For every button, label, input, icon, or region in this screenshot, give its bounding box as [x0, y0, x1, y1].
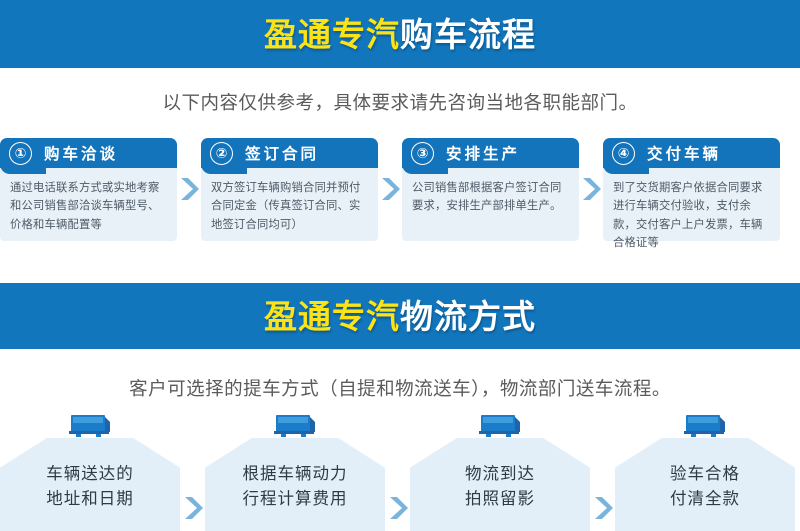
purchase-step-card-2[interactable]: ② 签订合同 双方签订车辆购销合同并预付合同定金（传真签订合同、实地签订合同均可…: [201, 138, 378, 241]
chevron-right-icon-4: [180, 410, 205, 531]
purchase-step-header-4: ④ 交付车辆: [603, 138, 780, 168]
purchase-step-card-3[interactable]: ③ 安排生产 公司销售部根据客户签订合同要求，安排生产部排单生产。: [402, 138, 579, 241]
logistics-banner-title: 盈通专汽物流方式: [264, 300, 536, 333]
logistics-step-label-4-line2: 付清全款: [615, 487, 795, 512]
truck-icon-2: [271, 410, 319, 440]
purchase-step-title-3: 安排生产: [446, 142, 520, 164]
chevron-right-icon-3: [579, 176, 603, 202]
logistics-banner-plain-text: 物流方式: [400, 298, 536, 335]
logistics-banner: 盈通专汽物流方式: [0, 283, 800, 349]
truck-icon-3: [476, 410, 524, 440]
truck-icon-4: [681, 410, 729, 440]
logistics-banner-highlight-text: 盈通专汽: [264, 298, 400, 335]
purchase-subtitle: 以下内容仅供参考，具体要求请先咨询当地各职能部门。: [0, 68, 800, 115]
logistics-step-label-2-line1: 根据车辆动力: [205, 462, 385, 487]
logistics-step-label-2: 根据车辆动力 行程计算费用: [205, 462, 385, 512]
logistics-step-label-3-line2: 拍照留影: [410, 487, 590, 512]
purchase-step-card-4[interactable]: ④ 交付车辆 到了交货期客户依据合同要求进行车辆交付验收，支付余款，交付客户上户…: [603, 138, 780, 241]
chevron-right-icon-5: [385, 410, 410, 531]
purchase-step-header-3: ③ 安排生产: [402, 138, 579, 168]
purchase-process-banner: 盈通专汽购车流程: [0, 0, 800, 68]
logistics-step-label-4-line1: 验车合格: [615, 462, 795, 487]
logistics-step-card-2[interactable]: 根据车辆动力 行程计算费用: [205, 410, 385, 531]
logistics-step-card-3[interactable]: 物流到达 拍照留影: [410, 410, 590, 531]
logistics-step-card-4[interactable]: 验车合格 付清全款: [615, 410, 795, 531]
logistics-step-card-1[interactable]: 车辆送达的 地址和日期: [0, 410, 180, 531]
purchase-step-body-3: 公司销售部根据客户签订合同要求，安排生产部排单生产。: [402, 168, 579, 216]
purchase-step-card-1[interactable]: ① 购车洽谈 通过电话联系方式或实地考察和公司销售部洽谈车辆型号、价格和车辆配置…: [0, 138, 177, 241]
purchase-step-header-1: ① 购车洽谈: [0, 138, 177, 168]
truck-icon-1: [66, 410, 114, 440]
step-number-badge-1: ①: [9, 142, 32, 165]
logistics-step-label-3: 物流到达 拍照留影: [410, 462, 590, 512]
logistics-step-label-3-line1: 物流到达: [410, 462, 590, 487]
purchase-step-body-2: 双方签订车辆购销合同并预付合同定金（传真签订合同、实地签订合同均可）: [201, 168, 378, 234]
chevron-right-icon-2: [378, 176, 402, 202]
purchase-steps-row: ① 购车洽谈 通过电话联系方式或实地考察和公司销售部洽谈车辆型号、价格和车辆配置…: [0, 138, 800, 243]
step-number-badge-3: ③: [411, 142, 434, 165]
logistics-step-label-1-line1: 车辆送达的: [0, 462, 180, 487]
step-number-badge-4: ④: [612, 142, 635, 165]
purchase-step-title-1: 购车洽谈: [44, 142, 118, 164]
purchase-process-banner-title: 盈通专汽购车流程: [264, 18, 536, 51]
step-number-badge-2: ②: [210, 142, 233, 165]
purchase-step-title-4: 交付车辆: [647, 142, 721, 164]
banner-highlight-text: 盈通专汽: [264, 16, 400, 53]
purchase-step-body-4: 到了交货期客户依据合同要求进行车辆交付验收，支付余款，交付客户上户发票，车辆合格…: [603, 168, 780, 252]
logistics-step-label-1: 车辆送达的 地址和日期: [0, 462, 180, 512]
chevron-right-icon-1: [177, 176, 201, 202]
logistics-subtitle: 客户可选择的提车方式（自提和物流送车），物流部门送车流程。: [0, 349, 800, 401]
logistics-step-label-1-line2: 地址和日期: [0, 487, 180, 512]
logistics-step-label-4: 验车合格 付清全款: [615, 462, 795, 512]
logistics-steps-row: 车辆送达的 地址和日期 根据车辆动力 行程计算费用: [0, 410, 800, 531]
chevron-right-icon-6: [590, 410, 615, 531]
purchase-step-header-2: ② 签订合同: [201, 138, 378, 168]
purchase-step-title-2: 签订合同: [245, 142, 319, 164]
purchase-step-body-1: 通过电话联系方式或实地考察和公司销售部洽谈车辆型号、价格和车辆配置等: [0, 168, 177, 234]
logistics-step-label-2-line2: 行程计算费用: [205, 487, 385, 512]
banner-plain-text: 购车流程: [400, 16, 536, 53]
